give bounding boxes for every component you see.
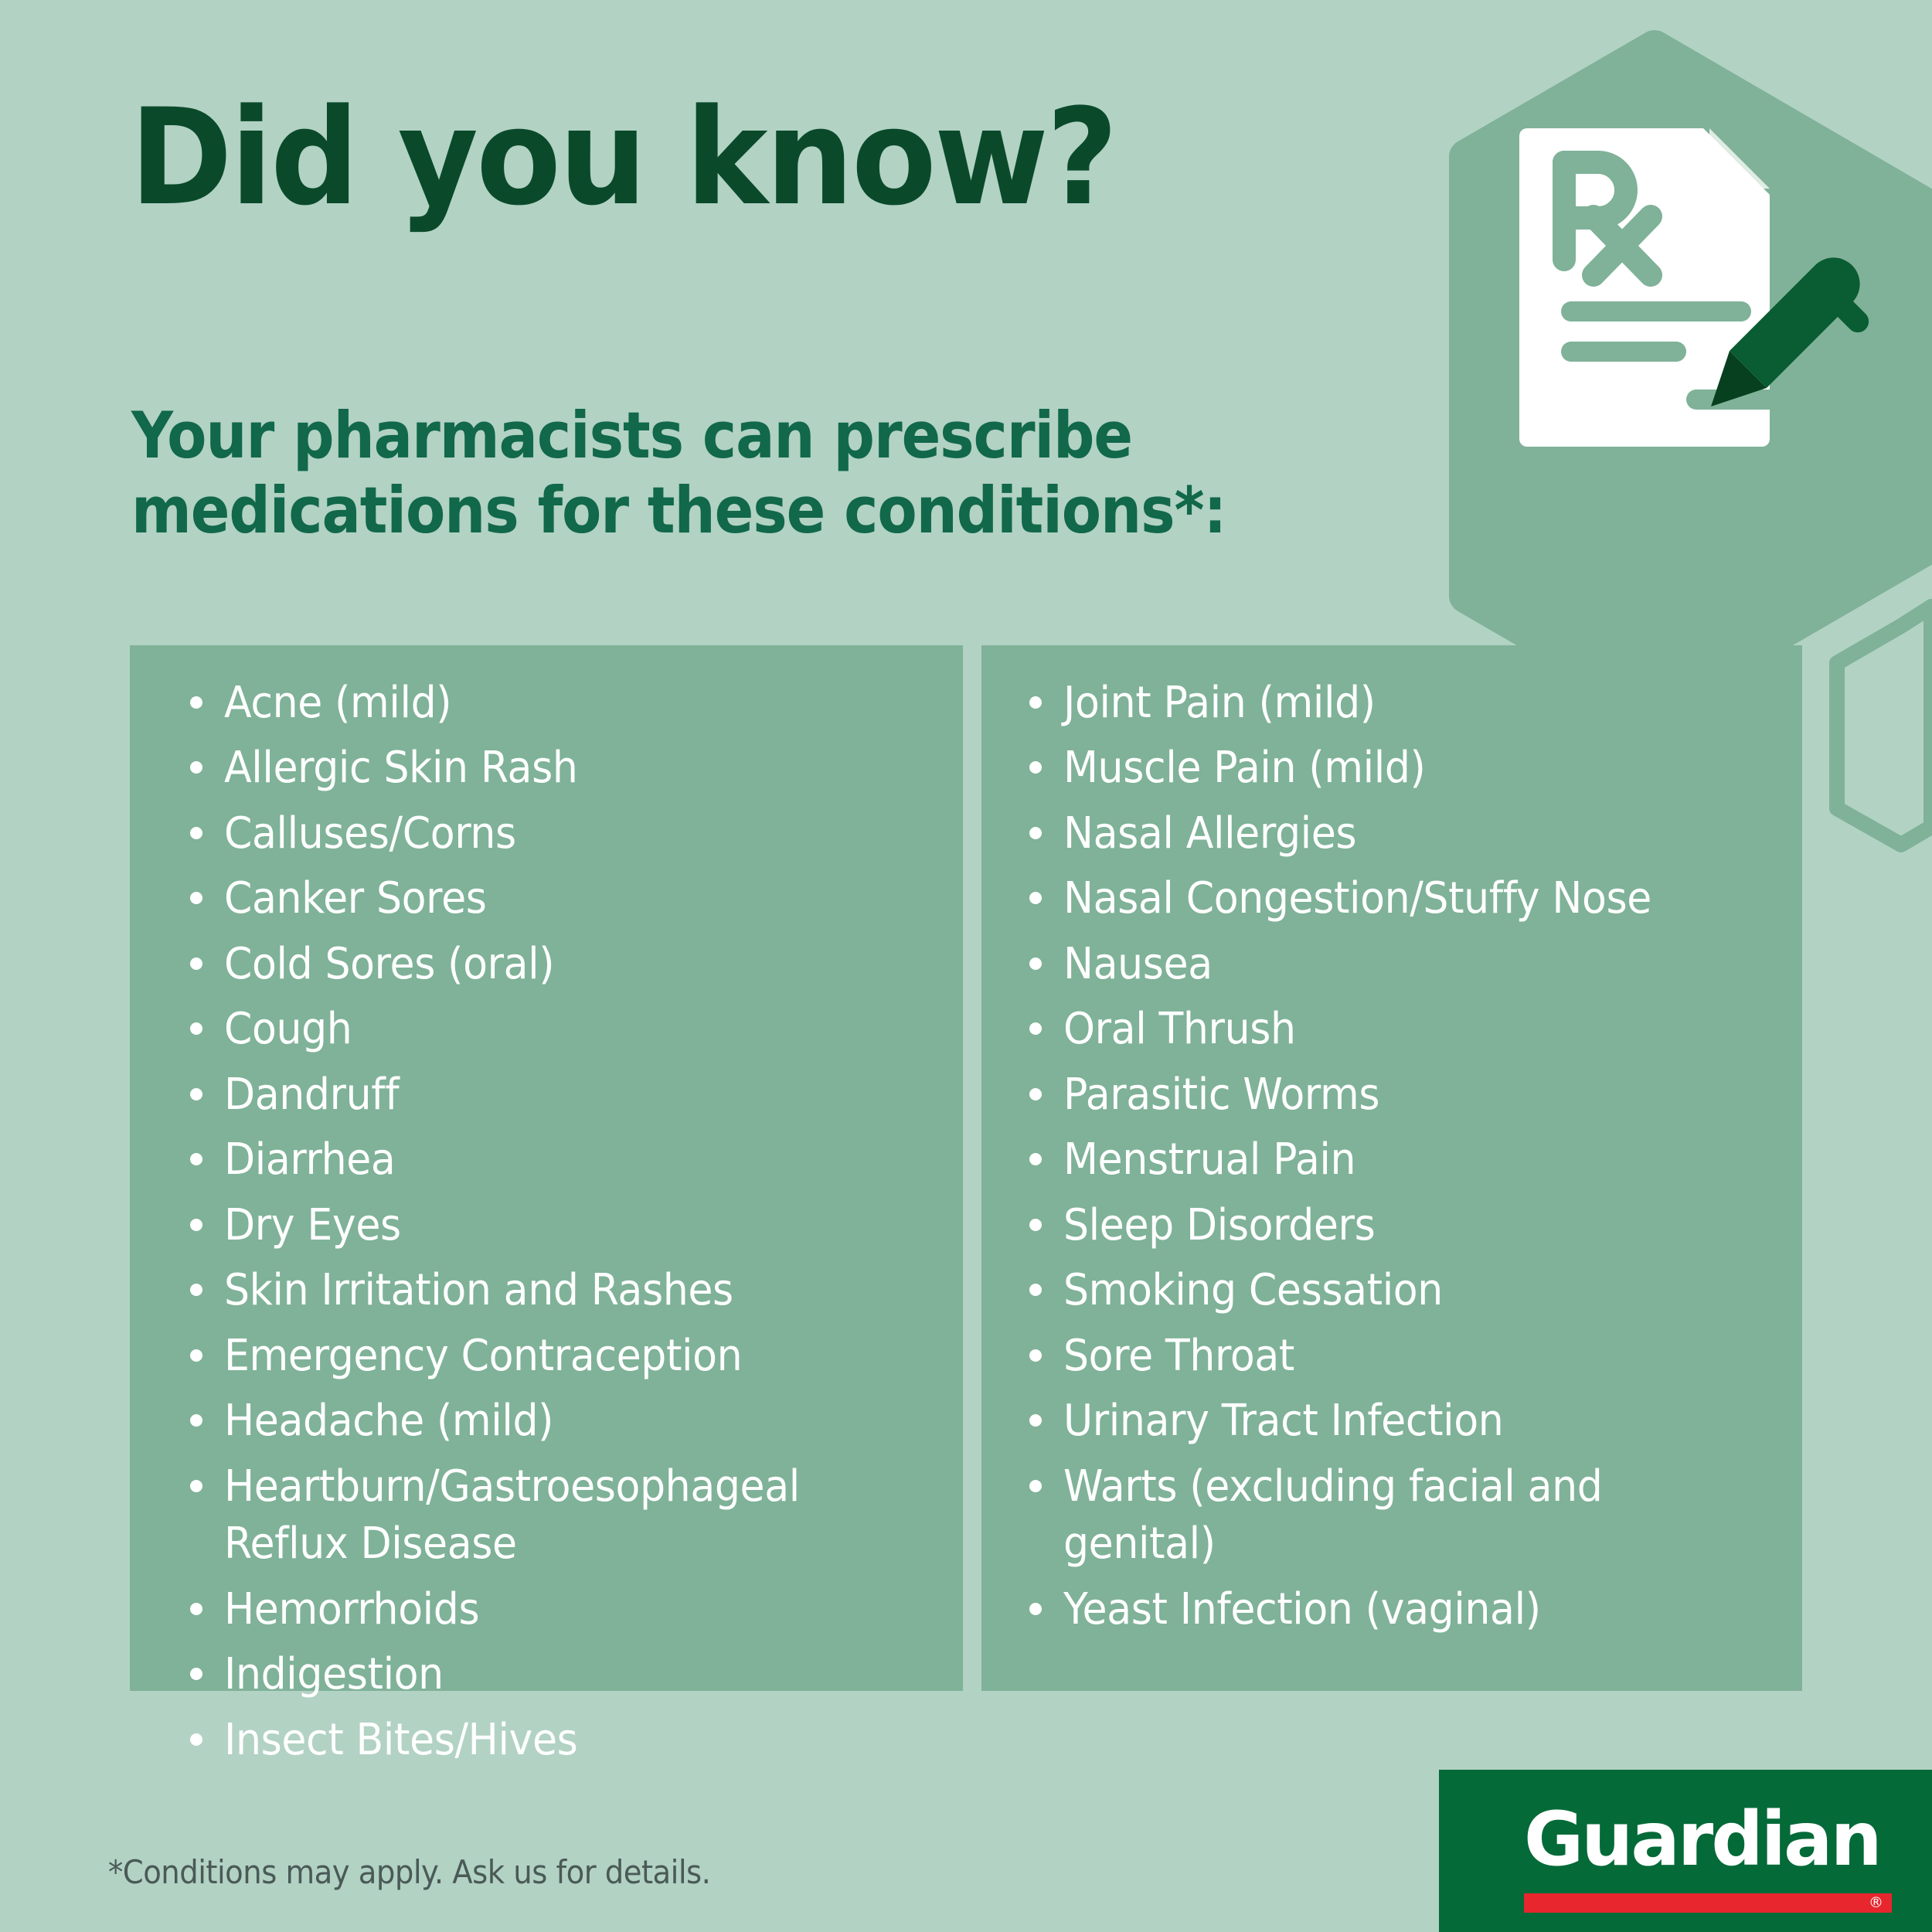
condition-list-item: Allergic Skin Rash bbox=[189, 740, 930, 797]
condition-label: Nausea bbox=[1063, 936, 1213, 993]
bullet-icon bbox=[1029, 1284, 1042, 1296]
condition-list-item: Skin Irritation and Rashes bbox=[189, 1262, 930, 1319]
condition-list-item: Oral Thrush bbox=[1028, 1001, 1785, 1058]
bullet-icon bbox=[1029, 1603, 1042, 1615]
conditions-list-left: Acne (mild)Allergic Skin RashCalluses/Co… bbox=[189, 675, 930, 1777]
condition-label: Joint Pain (mild) bbox=[1063, 675, 1376, 732]
condition-label: Hemorrhoids bbox=[224, 1581, 479, 1638]
condition-label: Warts (excluding facial and genital) bbox=[1063, 1458, 1735, 1573]
condition-label: Urinary Tract Infection bbox=[1063, 1393, 1503, 1450]
condition-label: Nasal Allergies bbox=[1063, 805, 1356, 862]
bullet-icon bbox=[190, 696, 202, 709]
condition-label: Muscle Pain (mild) bbox=[1063, 740, 1425, 797]
bullet-icon bbox=[1029, 1153, 1042, 1165]
page-subtitle-line-2: medications for these conditions*: bbox=[131, 473, 1226, 548]
condition-label: Menstrual Pain bbox=[1063, 1131, 1355, 1189]
condition-list-item: Cold Sores (oral) bbox=[189, 936, 930, 993]
condition-list-item: Dry Eyes bbox=[189, 1197, 930, 1254]
bullet-icon bbox=[190, 1284, 202, 1296]
footnote-disclaimer: *Conditions may apply. Ask us for detail… bbox=[108, 1853, 710, 1891]
conditions-panels: Acne (mild)Allergic Skin RashCalluses/Co… bbox=[130, 645, 1802, 1691]
condition-label: Cold Sores (oral) bbox=[224, 936, 554, 993]
condition-label: Calluses/Corns bbox=[224, 805, 516, 862]
condition-list-item: Yeast Infection (vaginal) bbox=[1028, 1581, 1785, 1638]
page-subtitle: Your pharmacists can prescribe medicatio… bbox=[131, 398, 1226, 548]
condition-list-item: Acne (mild) bbox=[189, 675, 930, 732]
condition-label: Smoking Cessation bbox=[1063, 1262, 1443, 1319]
registered-trademark-mark: ® bbox=[1869, 1896, 1883, 1910]
bullet-icon bbox=[1029, 1480, 1042, 1492]
bullet-icon bbox=[1029, 1349, 1042, 1362]
condition-list-item: Diarrhea bbox=[189, 1131, 930, 1189]
condition-label: Allergic Skin Rash bbox=[224, 740, 577, 797]
page-title: Did you know? bbox=[130, 91, 1116, 224]
condition-label: Parasitic Worms bbox=[1063, 1066, 1379, 1124]
condition-label: Sleep Disorders bbox=[1063, 1197, 1375, 1254]
condition-list-item: Dandruff bbox=[189, 1066, 930, 1124]
condition-list-item: Nausea bbox=[1028, 936, 1785, 993]
condition-label: Headache (mild) bbox=[224, 1393, 553, 1450]
condition-label: Nasal Congestion/Stuffy Nose bbox=[1063, 870, 1651, 927]
bullet-icon bbox=[190, 1022, 202, 1035]
condition-list-item: Headache (mild) bbox=[189, 1393, 930, 1450]
infographic-poster: Did you know? Your pharmacists can presc… bbox=[0, 0, 1932, 1932]
bullet-icon bbox=[190, 1088, 202, 1100]
conditions-list-right: Joint Pain (mild)Muscle Pain (mild)Nasal… bbox=[1028, 675, 1785, 1646]
bullet-icon bbox=[1029, 1219, 1042, 1231]
bullet-icon bbox=[190, 1480, 202, 1492]
condition-list-item: Hemorrhoids bbox=[189, 1581, 930, 1638]
bullet-icon bbox=[190, 1668, 202, 1680]
condition-label: Dry Eyes bbox=[224, 1197, 401, 1254]
condition-label: Acne (mild) bbox=[224, 675, 451, 732]
condition-label: Diarrhea bbox=[224, 1131, 395, 1189]
conditions-panel-left: Acne (mild)Allergic Skin RashCalluses/Co… bbox=[130, 645, 963, 1691]
bullet-icon bbox=[190, 1603, 202, 1615]
bullet-icon bbox=[1029, 761, 1042, 774]
condition-list-item: Parasitic Worms bbox=[1028, 1066, 1785, 1124]
condition-label: Indigestion bbox=[224, 1646, 444, 1703]
bullet-icon bbox=[190, 892, 202, 904]
bullet-icon bbox=[1029, 1414, 1042, 1427]
bullet-icon bbox=[1029, 1088, 1042, 1100]
condition-list-item: Cough bbox=[189, 1001, 930, 1058]
document-line-2 bbox=[1561, 342, 1686, 362]
condition-label: Dandruff bbox=[224, 1066, 399, 1124]
page-subtitle-line-1: Your pharmacists can prescribe bbox=[131, 398, 1226, 473]
condition-list-item: Indigestion bbox=[189, 1646, 930, 1703]
hexagon-outline-secondary bbox=[1837, 607, 1931, 845]
bullet-icon bbox=[190, 1414, 202, 1427]
conditions-panel-right: Joint Pain (mild)Muscle Pain (mild)Nasal… bbox=[981, 645, 1802, 1691]
condition-list-item: Sleep Disorders bbox=[1028, 1197, 1785, 1254]
condition-list-item: Urinary Tract Infection bbox=[1028, 1393, 1785, 1450]
condition-label: Cough bbox=[224, 1001, 352, 1058]
bullet-icon bbox=[190, 761, 202, 774]
condition-label: Heartburn/Gastroesophageal Reflux Diseas… bbox=[224, 1458, 881, 1573]
guardian-wordmark: Guardian bbox=[1524, 1802, 1880, 1876]
condition-list-item: Muscle Pain (mild) bbox=[1028, 740, 1785, 797]
condition-list-item: Sore Throat bbox=[1028, 1328, 1785, 1385]
condition-list-item: Heartburn/Gastroesophageal Reflux Diseas… bbox=[189, 1458, 930, 1573]
condition-label: Emergency Contraception bbox=[224, 1328, 742, 1385]
bullet-icon bbox=[190, 1219, 202, 1231]
condition-list-item: Emergency Contraception bbox=[189, 1328, 930, 1385]
condition-list-item: Canker Sores bbox=[189, 870, 930, 927]
condition-list-item: Smoking Cessation bbox=[1028, 1262, 1785, 1319]
document-fold-corner bbox=[1709, 128, 1770, 189]
condition-label: Insect Bites/Hives bbox=[224, 1712, 577, 1769]
condition-list-item: Calluses/Corns bbox=[189, 805, 930, 862]
condition-list-item: Nasal Congestion/Stuffy Nose bbox=[1028, 870, 1785, 927]
condition-list-item: Nasal Allergies bbox=[1028, 805, 1785, 862]
bullet-icon bbox=[190, 1733, 202, 1746]
document-line-1 bbox=[1561, 301, 1751, 321]
condition-list-item: Joint Pain (mild) bbox=[1028, 675, 1785, 732]
bullet-icon bbox=[190, 957, 202, 970]
bullet-icon bbox=[190, 1153, 202, 1165]
condition-list-item: Menstrual Pain bbox=[1028, 1131, 1785, 1189]
condition-list-item: Insect Bites/Hives bbox=[189, 1712, 930, 1769]
bullet-icon bbox=[1029, 696, 1042, 709]
condition-list-item: Warts (excluding facial and genital) bbox=[1028, 1458, 1785, 1573]
condition-label: Yeast Infection (vaginal) bbox=[1063, 1581, 1541, 1638]
condition-label: Canker Sores bbox=[224, 870, 487, 927]
rx-prescription-icon bbox=[1507, 116, 1878, 456]
bullet-icon bbox=[1029, 1022, 1042, 1035]
guardian-red-rule bbox=[1524, 1893, 1892, 1913]
guardian-logo: Guardian ® bbox=[1439, 1770, 1932, 1932]
bullet-icon bbox=[1029, 957, 1042, 970]
bullet-icon bbox=[190, 1349, 202, 1362]
bullet-icon bbox=[1029, 827, 1042, 839]
condition-label: Oral Thrush bbox=[1063, 1001, 1296, 1058]
bullet-icon bbox=[190, 827, 202, 839]
condition-label: Sore Throat bbox=[1063, 1328, 1294, 1385]
bullet-icon bbox=[1029, 892, 1042, 904]
condition-label: Skin Irritation and Rashes bbox=[224, 1262, 733, 1319]
